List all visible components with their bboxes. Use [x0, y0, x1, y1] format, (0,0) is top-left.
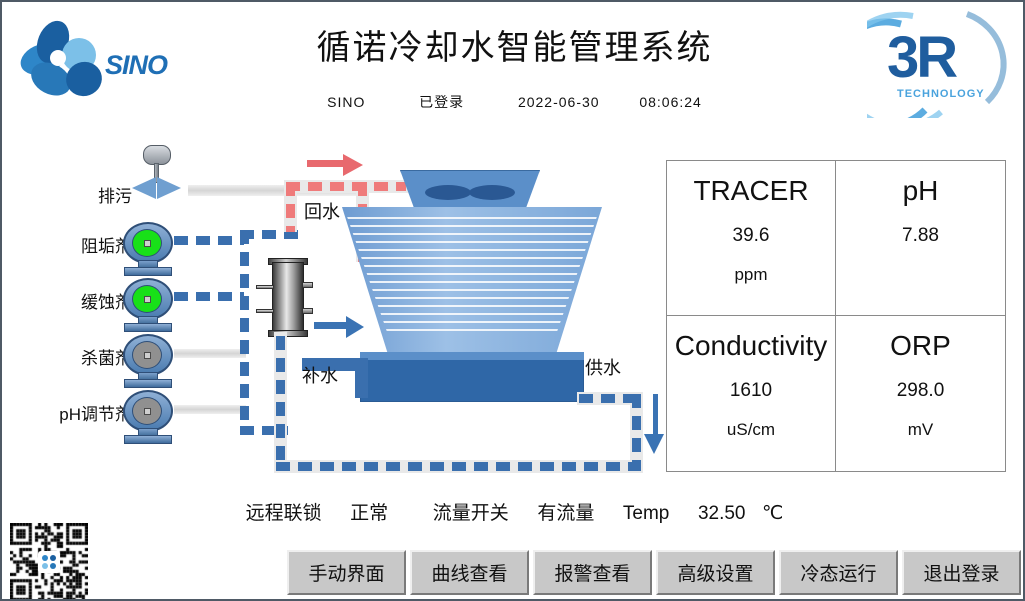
qr-code[interactable]	[10, 523, 88, 601]
temp-label: Temp	[623, 503, 669, 525]
fan-blade-right-icon	[469, 185, 515, 200]
label-return-water: 回水	[304, 198, 340, 224]
session-user: SINO	[327, 94, 365, 110]
login-status: 已登录	[419, 92, 464, 112]
dosing-header-riser	[240, 230, 249, 434]
vessel-nozzle-lower-icon	[302, 308, 313, 314]
manual-interface-button[interactable]: 手动界面	[287, 550, 406, 595]
supply-pipe-left	[276, 336, 285, 464]
system-time: 08:06:24	[639, 94, 702, 110]
pump-ph-adjuster[interactable]	[120, 390, 176, 446]
pump-shaft-icon	[144, 352, 151, 359]
equipment-label-biocide: 杀菌剂	[2, 344, 132, 369]
dosing-line-inhibitor	[174, 292, 244, 301]
remote-interlock-label: 远程联锁	[246, 498, 322, 525]
dosing-line-antiscalant	[174, 236, 244, 245]
tower-fan-deck	[400, 170, 540, 208]
measurement-conductivity[interactable]: Conductivity 1610 uS/cm	[667, 316, 836, 471]
equipment-label-ph-adjuster: pH调节剂	[2, 400, 132, 425]
cold-start-button[interactable]: 冷态运行	[779, 550, 898, 595]
vessel-nozzle-upper-icon	[302, 282, 313, 288]
fan-blade-left-icon	[425, 185, 471, 200]
dosing-line-biocide	[174, 349, 246, 358]
process-status-row: 远程联锁 正常 流量开关 有流量 Temp 32.50 ℃	[2, 498, 1025, 525]
pump-base-icon	[124, 323, 172, 332]
measurement-value: 298.0	[897, 380, 945, 402]
flow-switch-value: 有流量	[537, 498, 594, 525]
measurement-value: 7.88	[902, 225, 939, 247]
measurement-unit: mV	[908, 420, 934, 440]
pump-shaft-icon	[144, 240, 151, 247]
qr-center-logo	[38, 551, 60, 573]
pump-inhibitor[interactable]	[120, 278, 176, 334]
temp-value: 32.50	[698, 503, 746, 525]
measurement-panel: TRACER 39.6 ppm pH 7.88 Conductivity 161…	[666, 160, 1006, 472]
valve-body-right-icon	[157, 177, 181, 199]
temp-unit: ℃	[762, 502, 783, 525]
supply-pipe-right	[632, 394, 641, 470]
logout-button[interactable]: 退出登录	[902, 550, 1021, 595]
valve-body-left-icon	[132, 177, 156, 199]
page-title: 循诺冷却水智能管理系统	[2, 20, 1025, 69]
measurement-value: 1610	[730, 380, 772, 402]
measurement-name: TRACER	[693, 175, 808, 207]
pump-biocide[interactable]	[120, 334, 176, 390]
session-status-bar: SINO 已登录 2022-06-30 08:06:24	[2, 92, 1025, 112]
pump-base-icon	[124, 379, 172, 388]
pump-antiscalant[interactable]	[120, 222, 176, 278]
alarm-view-button[interactable]: 报警查看	[533, 550, 652, 595]
trend-view-button[interactable]: 曲线查看	[410, 550, 529, 595]
supply-pipe-bottom	[276, 462, 641, 471]
measurement-ph[interactable]: pH 7.88	[836, 161, 1005, 316]
return-flow-arrow	[307, 158, 367, 166]
drain-valve-icon[interactable]	[122, 145, 192, 200]
pump-base-icon	[124, 435, 172, 444]
makeup-pipe-vertical	[355, 358, 368, 398]
navigation-button-bar: 手动界面 曲线查看 报警查看 高级设置 冷态运行 退出登录	[287, 550, 1021, 595]
equipment-label-inhibitor: 缓蚀剂	[2, 288, 132, 313]
hmi-screen: SINO 3R TECHNOLOGY 循诺冷却水智能管理系统 SINO 已登录 …	[0, 0, 1025, 601]
measurement-unit: uS/cm	[727, 420, 775, 440]
system-date: 2022-06-30	[518, 94, 600, 110]
measurement-orp[interactable]: ORP 298.0 mV	[836, 316, 1005, 471]
measurement-tracer[interactable]: TRACER 39.6 ppm	[667, 161, 836, 316]
label-makeup-water: 补水	[302, 362, 338, 388]
remote-interlock-value: 正常	[350, 498, 388, 525]
measurement-name: pH	[903, 175, 939, 207]
return-pipe-left	[286, 182, 295, 232]
pump-base-icon	[124, 267, 172, 276]
tower-basin-lip	[360, 352, 584, 360]
label-supply-water: 供水	[585, 354, 621, 380]
vessel-probe-lower-icon	[256, 309, 274, 313]
valve-actuator-icon	[143, 145, 171, 165]
equipment-label-antiscalant: 阻垢剂	[2, 232, 132, 257]
advanced-settings-button[interactable]: 高级设置	[656, 550, 775, 595]
vessel-probe-upper-icon	[256, 285, 274, 289]
dosing-line-ph	[174, 405, 246, 414]
vessel-shell-icon	[272, 262, 304, 332]
measurement-name: ORP	[890, 330, 951, 362]
supply-down-arrow	[650, 394, 658, 456]
pump-shaft-icon	[144, 408, 151, 415]
flow-switch-label: 流量开关	[433, 498, 509, 525]
cooling-tower[interactable]	[342, 170, 602, 425]
measurement-unit: ppm	[734, 265, 767, 285]
pump-shaft-icon	[144, 296, 151, 303]
equipment-label-drain: 排污	[2, 182, 132, 207]
measurement-name: Conductivity	[675, 330, 828, 362]
side-stream-filter-vessel[interactable]	[264, 252, 312, 344]
measurement-value: 39.6	[733, 225, 770, 247]
